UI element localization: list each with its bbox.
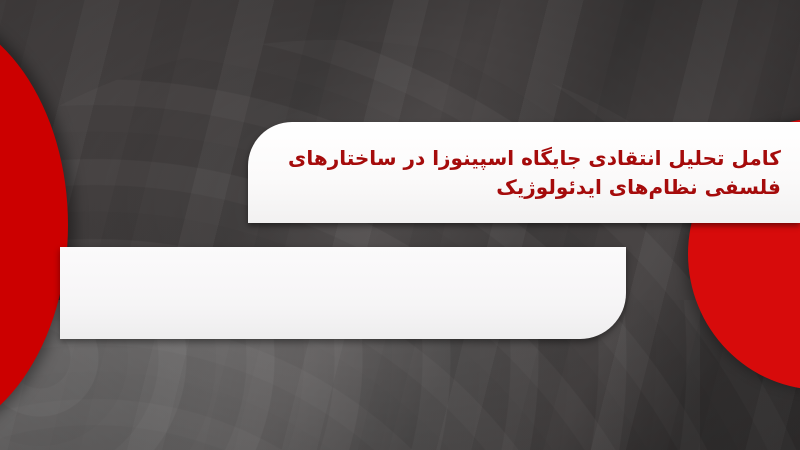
subtitle-panel[interactable] [60, 247, 626, 339]
slide-title: کامل تحلیل انتقادی جایگاه اسپینوزا در سا… [288, 144, 781, 201]
title-banner[interactable]: کامل تحلیل انتقادی جایگاه اسپینوزا در سا… [248, 122, 800, 223]
background-vignette [0, 0, 800, 450]
title-slide: کامل تحلیل انتقادی جایگاه اسپینوزا در سا… [0, 0, 800, 450]
